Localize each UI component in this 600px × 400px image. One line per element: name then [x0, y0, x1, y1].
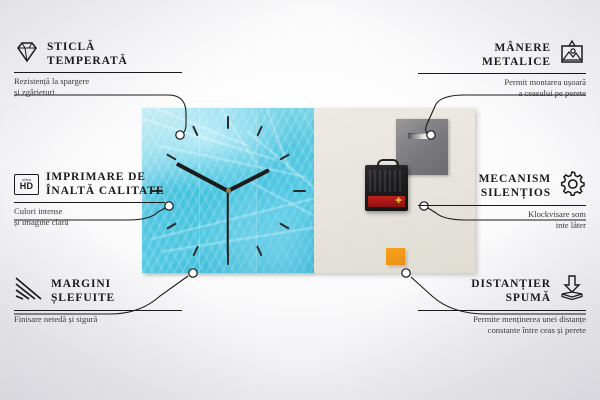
callout-title-line2: SILENȚIOS: [479, 186, 551, 200]
ultra-hd-large-text: HD: [20, 182, 34, 191]
callout-rule: [418, 205, 586, 206]
foam-spacer: [386, 248, 405, 265]
callout-sub-line1: Rezistență la spargere: [14, 76, 189, 87]
callout-hd-print: ultra HD IMPRIMARE DE ÎNALTĂ CALITATE Cu…: [14, 170, 199, 228]
callout-title-line1: MECANISM: [479, 172, 551, 186]
infographic-canvas: ✚: [0, 0, 600, 400]
battery: ✚: [368, 196, 405, 207]
hour-hand: [227, 168, 270, 192]
callout-sub-line2: și imagine clară: [14, 217, 199, 228]
callout-rule: [418, 73, 586, 74]
callout-sub-line1: Finisare netedă și sigură: [14, 314, 189, 325]
callout-title-line1: MARGINI: [51, 277, 115, 291]
callout-title-line2: ȘLEFUITE: [51, 291, 115, 305]
callout-silent-mechanism: MECANISM SILENȚIOS Klockvisare som inte …: [411, 170, 586, 231]
picture-hanger-icon: [558, 40, 586, 69]
mechanism-texture: [369, 170, 404, 192]
callout-sub-line2: și zgârieturi: [14, 87, 189, 98]
callout-rule: [14, 310, 182, 311]
hands-center-cap: [226, 188, 231, 193]
clock-mechanism: ✚: [365, 165, 408, 211]
callout-tempered-glass: STICLĂ TEMPERATĂ Rezistență la spargere …: [14, 40, 189, 98]
callout-rule: [418, 310, 586, 311]
mechanism-hook: [377, 159, 399, 169]
callout-title-line1: STICLĂ: [47, 40, 128, 54]
callout-foam-spacer: DISTANȚIER SPUMĂ Permite menținerea unei…: [391, 275, 586, 336]
callout-sub-line2: a ceasului pe perete: [411, 88, 586, 99]
callout-title-line1: DISTANȚIER: [471, 277, 551, 291]
callout-metal-handles: MÂNERE METALICE Permit montarea ușoară a…: [411, 40, 586, 99]
battery-plus-icon: ✚: [395, 197, 402, 205]
diamond-icon: [14, 41, 40, 68]
callout-rule: [14, 72, 182, 73]
callout-title-line2: SPUMĂ: [471, 291, 551, 305]
callout-sub-line1: Culori intense: [14, 206, 199, 217]
callout-sub-line2: constante între ceas și perete: [391, 325, 586, 336]
callout-sub-line1: Permit montarea ușoară: [411, 77, 586, 88]
ultra-hd-icon: ultra HD: [14, 174, 39, 195]
callout-title-line1: MÂNERE: [482, 41, 551, 55]
gear-icon: [558, 170, 586, 201]
callout-polished-edges: MARGINI ȘLEFUITE Finisare netedă și sigu…: [14, 275, 189, 325]
foam-spacer-icon: [558, 275, 586, 306]
callout-sub-line1: Permite menținerea unei distanțe: [391, 314, 586, 325]
callout-title-line2: METALICE: [482, 55, 551, 69]
callout-title-line2: ÎNALTĂ CALITATE: [46, 184, 164, 198]
callout-sub-line1: Klockvisare som: [411, 209, 586, 220]
second-hand: [227, 191, 229, 253]
callout-title-line1: IMPRIMARE DE: [46, 170, 164, 184]
callout-title-line2: TEMPERATĂ: [47, 54, 128, 68]
callout-sub-line2: inte låter: [411, 220, 586, 231]
polished-edges-icon: [14, 275, 44, 306]
hanger-slot: [408, 133, 432, 139]
callout-rule: [14, 202, 165, 203]
